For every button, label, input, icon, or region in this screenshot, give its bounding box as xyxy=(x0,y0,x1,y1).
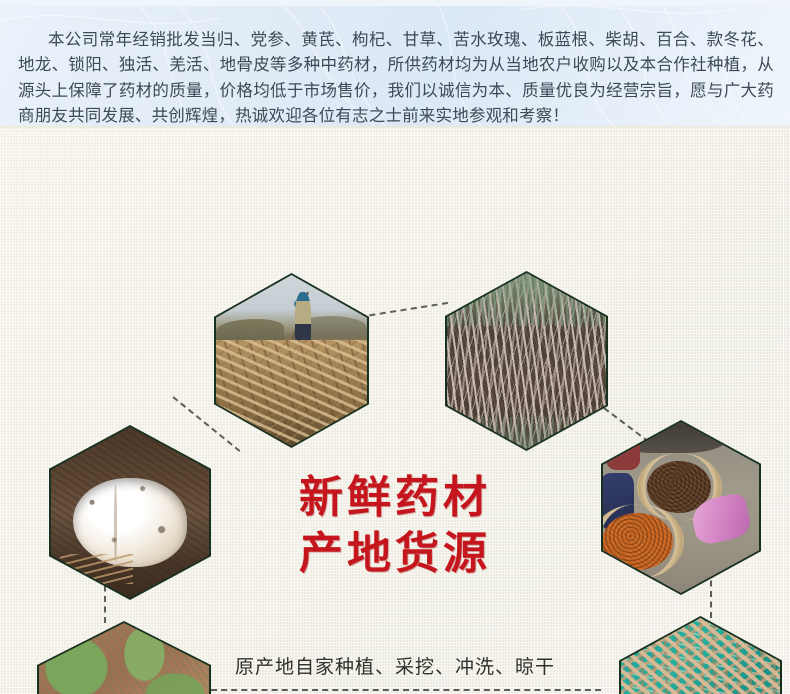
headline-line-1: 新鲜药材 xyxy=(0,472,790,524)
connector-seedlings-to-cuts xyxy=(211,689,601,691)
hexagon-collage-panel: 新鲜药材 产地货源 原产地自家种植、采挖、冲洗、晾干 www.zgzywpt.c… xyxy=(0,128,790,694)
headline-line-2: 产地货源 xyxy=(0,528,790,580)
product-detail-page: 本公司常年经销批发当归、党参、黄芪、枸杞、甘草、苦水玫瑰、板蓝根、柴胡、百合、款… xyxy=(0,0,790,694)
process-subtitle: 原产地自家种植、采挖、冲洗、晾干 xyxy=(0,652,790,679)
panel-inner-border xyxy=(6,134,784,688)
company-description: 本公司常年经销批发当归、党参、黄芪、枸杞、甘草、苦水玫瑰、板蓝根、柴胡、百合、款… xyxy=(18,27,774,129)
banner-top-edge xyxy=(0,0,790,6)
intro-banner: 本公司常年经销批发当归、党参、黄芪、枸杞、甘草、苦水玫瑰、板蓝根、柴胡、百合、款… xyxy=(0,0,790,128)
